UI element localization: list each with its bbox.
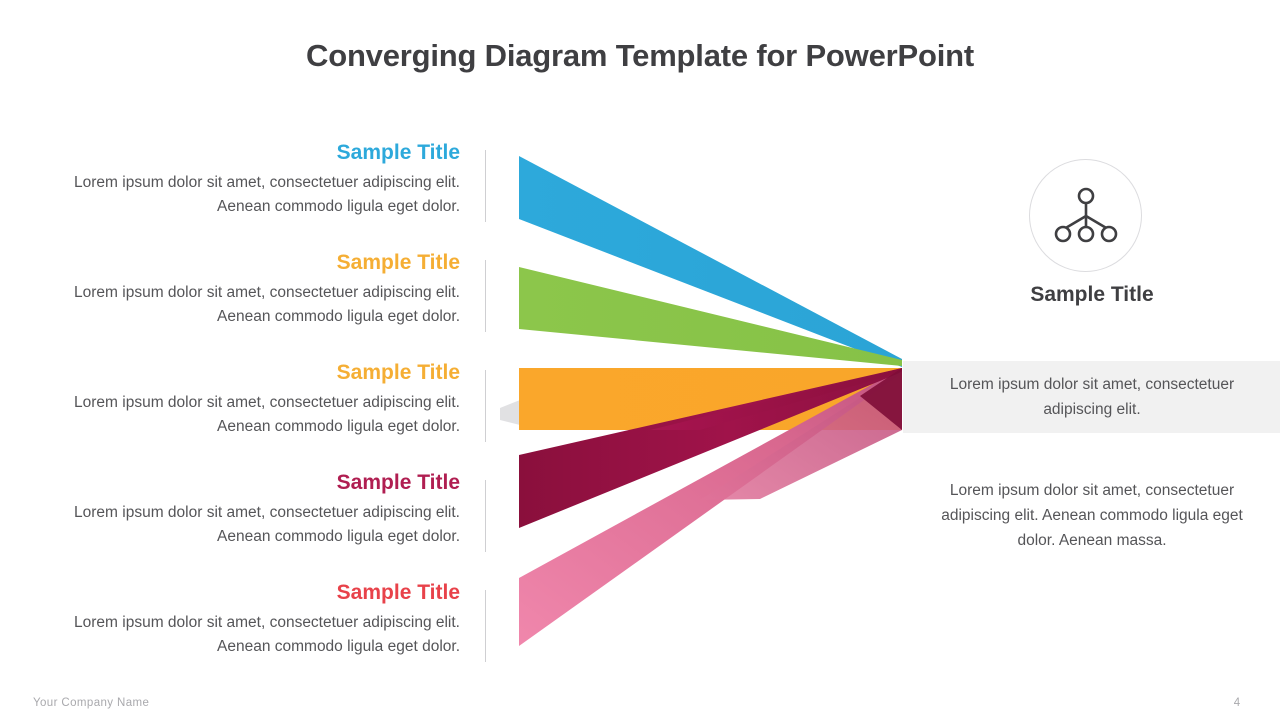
left-item-4-body: Lorem ipsum dolor sit amet, consectetuer… <box>40 501 460 549</box>
ribbon-burgundy <box>519 368 902 528</box>
right-panel-body: Lorem ipsum dolor sit amet, consectetuer… <box>932 478 1252 553</box>
left-item-2-body: Lorem ipsum dolor sit amet, consectetuer… <box>40 281 460 329</box>
ribbon-blue <box>519 156 902 367</box>
left-item-4[interactable]: Sample Title Lorem ipsum dolor sit amet,… <box>40 470 460 549</box>
left-item-3-title: Sample Title <box>40 360 460 386</box>
divider-4 <box>485 480 486 552</box>
footer-page-number: 4 <box>1225 697 1249 709</box>
left-item-5-body: Lorem ipsum dolor sit amet, consectetuer… <box>40 611 460 659</box>
left-item-5[interactable]: Sample Title Lorem ipsum dolor sit amet,… <box>40 580 460 659</box>
ribbon-orange <box>519 368 902 430</box>
ribbon-pink <box>519 368 902 646</box>
left-item-4-title: Sample Title <box>40 470 460 496</box>
divider-3 <box>485 370 486 442</box>
left-item-3-body: Lorem ipsum dolor sit amet, consectetuer… <box>40 391 460 439</box>
left-item-2-title: Sample Title <box>40 250 460 276</box>
hierarchy-network-icon <box>1029 159 1142 272</box>
ribbon-convergence-tip <box>860 368 902 430</box>
left-item-1-body: Lorem ipsum dolor sit amet, consectetuer… <box>40 171 460 219</box>
ribbon-green <box>519 267 902 366</box>
divider-2 <box>485 260 486 332</box>
footer-company-name: Your Company Name <box>33 697 149 709</box>
left-item-1[interactable]: Sample Title Lorem ipsum dolor sit amet,… <box>40 140 460 219</box>
page-title: Converging Diagram Template for PowerPoi… <box>0 38 1280 74</box>
left-item-2[interactable]: Sample Title Lorem ipsum dolor sit amet,… <box>40 250 460 329</box>
divider-5 <box>485 590 486 662</box>
left-item-1-title: Sample Title <box>40 140 460 166</box>
ribbon-pink-fold <box>700 371 902 500</box>
ribbon-burgundy-overlap <box>650 368 902 430</box>
left-item-3[interactable]: Sample Title Lorem ipsum dolor sit amet,… <box>40 360 460 439</box>
right-panel-title: Sample Title <box>912 283 1272 307</box>
left-item-5-title: Sample Title <box>40 580 460 606</box>
divider-1 <box>485 150 486 222</box>
right-highlight-panel-text: Lorem ipsum dolor sit amet, consectetuer… <box>932 372 1252 422</box>
